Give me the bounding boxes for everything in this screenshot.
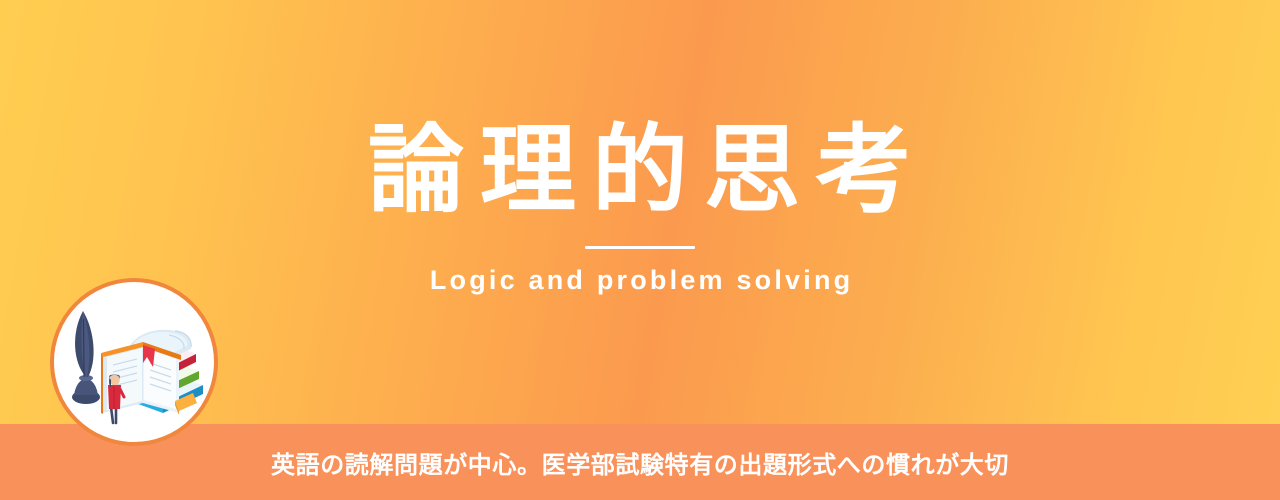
subject-hero-banner: 論理的思考 Logic and problem solving 英語の読解問題が…	[0, 0, 1280, 500]
caption-text: 英語の読解問題が中心。医学部試験特有の出題形式への慣れが大切	[271, 445, 1009, 480]
illustration-badge	[50, 278, 218, 446]
books-quill-illustration-icon	[57, 285, 211, 439]
page-title: 論理的思考	[352, 122, 928, 218]
badge-inner-circle	[57, 285, 211, 439]
caption-bar: 英語の読解問題が中心。医学部試験特有の出題形式への慣れが大切	[0, 424, 1280, 500]
page-subtitle: Logic and problem solving	[427, 265, 854, 296]
title-divider	[585, 246, 695, 249]
